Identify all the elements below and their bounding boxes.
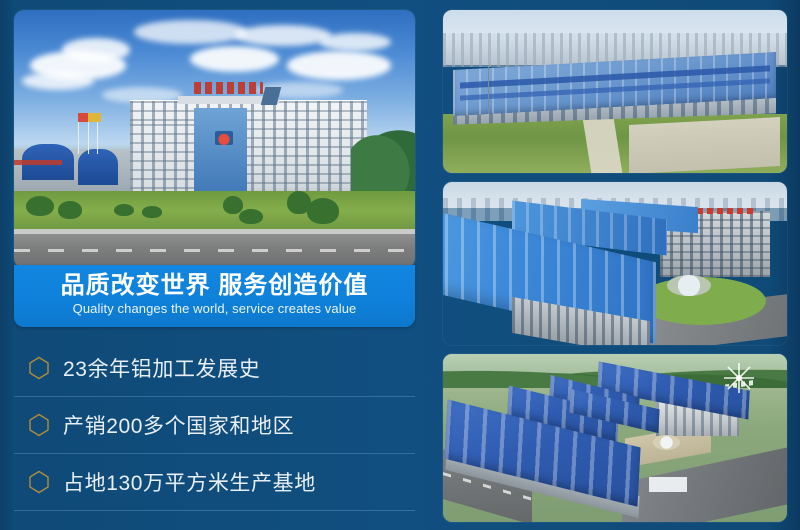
power-pylon bbox=[488, 65, 490, 114]
photo-plant-complex bbox=[443, 182, 787, 345]
cloud-shape bbox=[22, 72, 94, 90]
hexagon-bullet-icon bbox=[28, 413, 50, 437]
photo-plant-render bbox=[443, 354, 787, 522]
fountain bbox=[653, 435, 681, 450]
shrub bbox=[142, 206, 162, 218]
company-logo-emblem bbox=[215, 131, 233, 145]
blue-shed-roof bbox=[78, 149, 118, 185]
cloud-shape bbox=[287, 51, 391, 79]
road bbox=[14, 234, 415, 268]
shrub bbox=[58, 201, 82, 219]
photo-plant-aerial bbox=[443, 10, 787, 173]
cloud-shape bbox=[134, 20, 246, 43]
right-column bbox=[443, 10, 787, 522]
slogan-english: Quality changes the world, service creat… bbox=[73, 299, 357, 319]
flagpole-group bbox=[78, 113, 102, 154]
left-column: 品质改变世界 服务创造价值 Quality changes the world,… bbox=[14, 10, 415, 522]
main-gate bbox=[649, 477, 687, 492]
glass-curtain-wall bbox=[194, 108, 246, 196]
feature-item-area[interactable]: 占地130万平方米生产基地 bbox=[14, 454, 415, 511]
slogan-chinese: 品质改变世界 服务创造价值 bbox=[61, 273, 369, 298]
feature-item-label: 占地130万平方米生产基地 bbox=[63, 467, 316, 497]
hexagon-bullet-icon bbox=[28, 470, 50, 494]
slogan-banner: 品质改变世界 服务创造价值 Quality changes the world,… bbox=[14, 265, 415, 327]
shrub bbox=[223, 196, 243, 214]
company-headquarters-photo bbox=[14, 10, 415, 268]
hexagon-bullet-icon bbox=[28, 356, 50, 380]
feature-item-markets[interactable]: 产销200多个国家和地区 bbox=[14, 397, 415, 454]
office-building-wing bbox=[130, 124, 202, 196]
feature-item-history[interactable]: 23余年铝加工发展史 bbox=[14, 340, 415, 397]
cloud-shape bbox=[235, 25, 331, 46]
feature-item-label: 23余年铝加工发展史 bbox=[63, 353, 260, 383]
red-accent-strip bbox=[14, 160, 62, 165]
shrub bbox=[239, 209, 263, 224]
sun-burst-icon bbox=[722, 361, 756, 395]
feature-item-label: 产销200多个国家和地区 bbox=[63, 410, 294, 440]
shrub bbox=[307, 198, 339, 224]
building-signage bbox=[194, 82, 262, 94]
promo-page: 品质改变世界 服务创造价值 Quality changes the world,… bbox=[0, 0, 800, 530]
cloud-shape bbox=[62, 38, 130, 61]
feature-list: 23余年铝加工发展史 产销200多个国家和地区 占地130万平方米生产基地 bbox=[14, 340, 415, 511]
storage-yard bbox=[629, 117, 780, 173]
window-grid bbox=[130, 124, 202, 196]
cloud-shape bbox=[190, 46, 278, 72]
shrub bbox=[26, 196, 54, 217]
